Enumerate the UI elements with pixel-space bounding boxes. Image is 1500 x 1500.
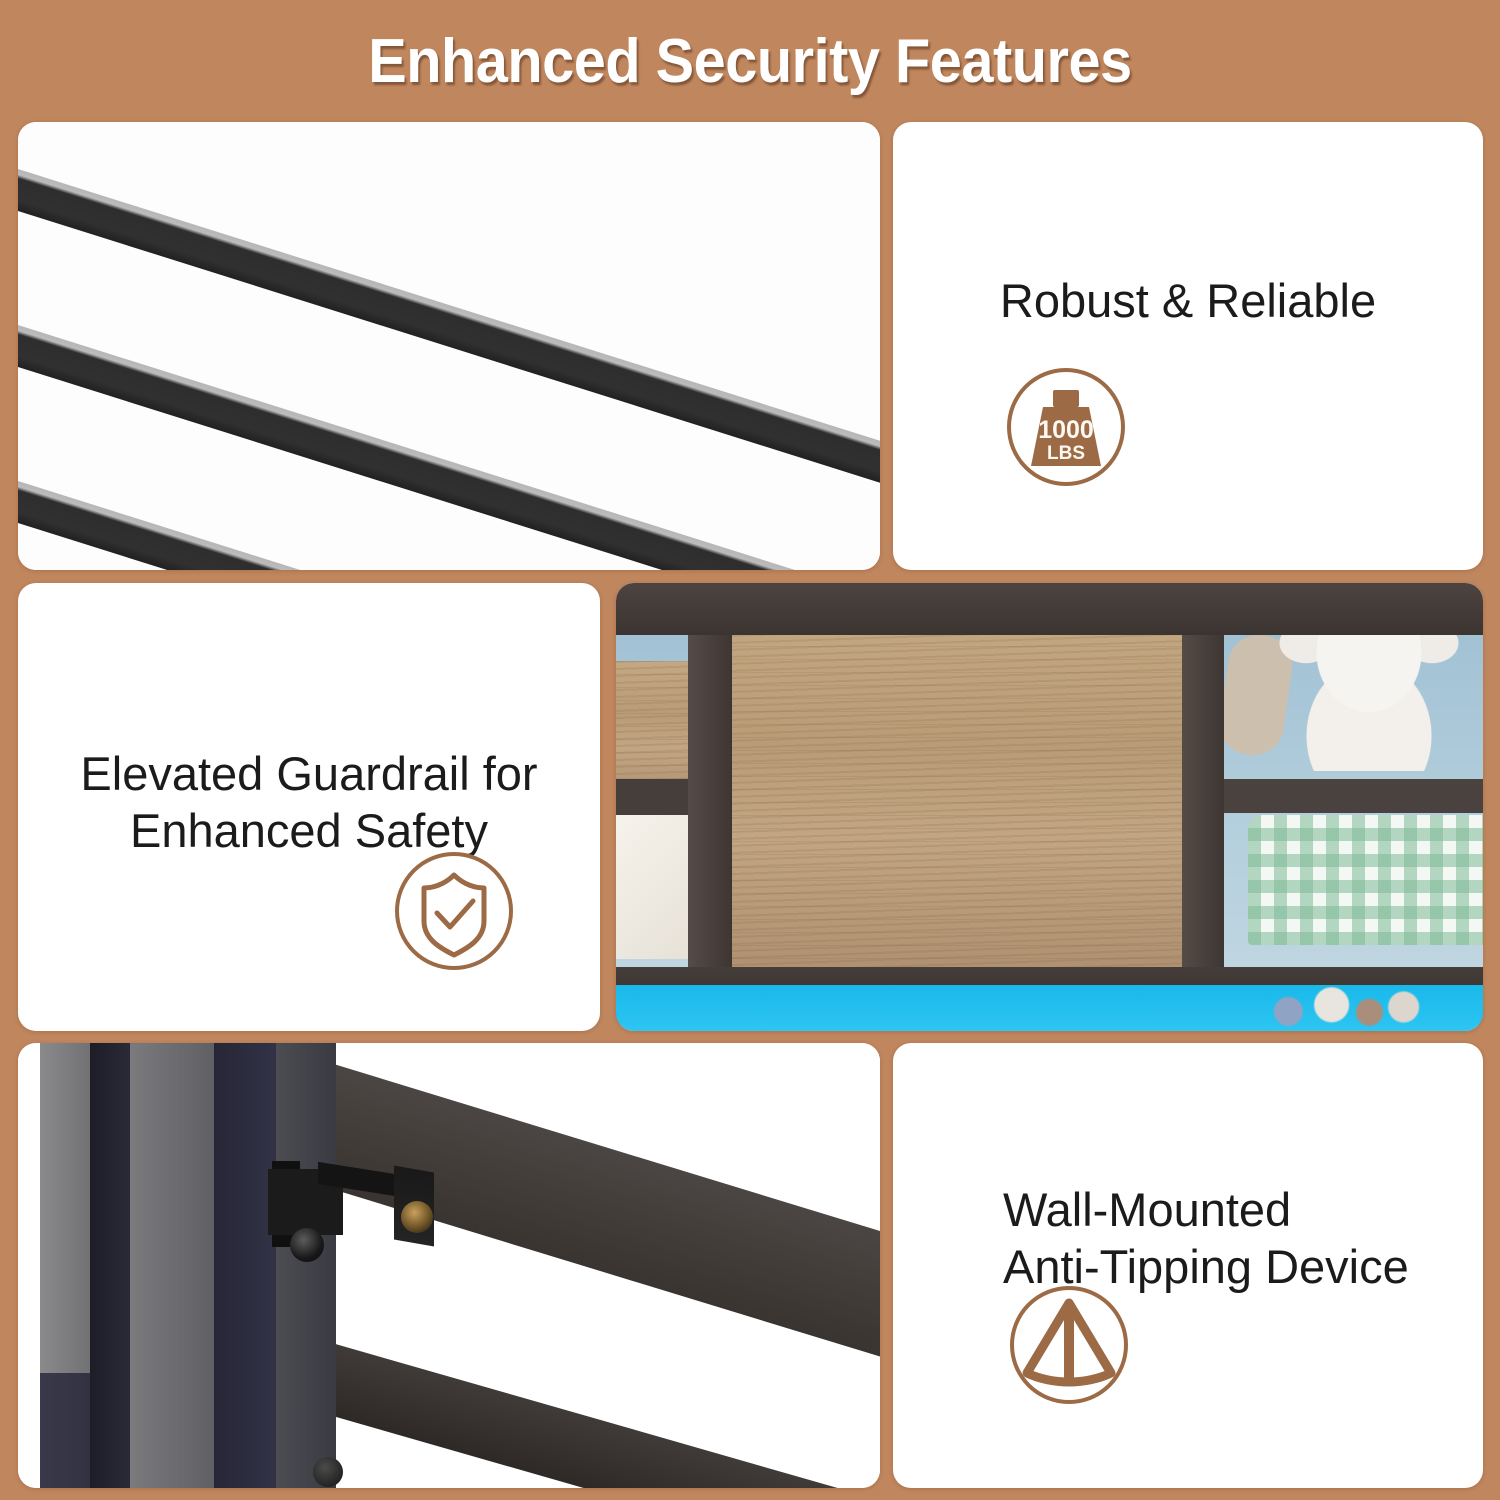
bed-post-face [130, 1043, 218, 1488]
page-title: Enhanced Security Features [53, 26, 1448, 97]
weight-value-text: 1000 [1038, 416, 1094, 444]
gingham-bedding [1248, 815, 1483, 945]
metal-frame-post [688, 611, 732, 979]
anti-tip-pyramid-icon [1003, 1279, 1135, 1416]
metal-frame-post [1182, 611, 1224, 979]
weight-capacity-icon: 1000 LBS [1001, 362, 1131, 497]
metal-frame-top-rail [616, 583, 1483, 635]
robust-reliable-heading: Robust & Reliable [893, 272, 1483, 329]
bed-slats-photo [18, 122, 880, 570]
bed-slats-photo-panel [18, 122, 880, 570]
wall-mounted-anti-tipping-card: Wall-Mounted Anti-Tipping Device [893, 1043, 1483, 1488]
guardrail-photo [616, 583, 1483, 1031]
shield-check-icon [388, 845, 520, 982]
elevated-guardrail-card: Elevated Guardrail for Enhanced Safety [18, 583, 600, 1031]
weight-unit-text: LBS [1047, 443, 1085, 464]
robust-reliable-card: Robust & Reliable 1000 LBS [893, 122, 1483, 570]
teddy-bear [1264, 611, 1474, 771]
wood-panel-main [728, 607, 1186, 977]
bed-post-face [214, 1043, 284, 1488]
bed-post-face [276, 1043, 336, 1488]
metal-frame-crossbar [616, 779, 688, 815]
anti-tip-bracket-photo [18, 1043, 880, 1488]
elevated-guardrail-heading: Elevated Guardrail for Enhanced Safety [58, 745, 560, 860]
bed-post-shadow-edge [90, 1043, 132, 1488]
anti-tip-bracket-photo-panel [18, 1043, 880, 1488]
toys-on-floor [1256, 985, 1436, 1029]
guardrail-photo-panel [616, 583, 1483, 1031]
bracket-bolt-brass [401, 1201, 433, 1233]
bracket-bolt [290, 1228, 324, 1262]
bracket-bolt [313, 1457, 343, 1487]
bed-rail-diagonal-lower [299, 1339, 880, 1488]
metal-frame-crossbar [1216, 779, 1483, 813]
